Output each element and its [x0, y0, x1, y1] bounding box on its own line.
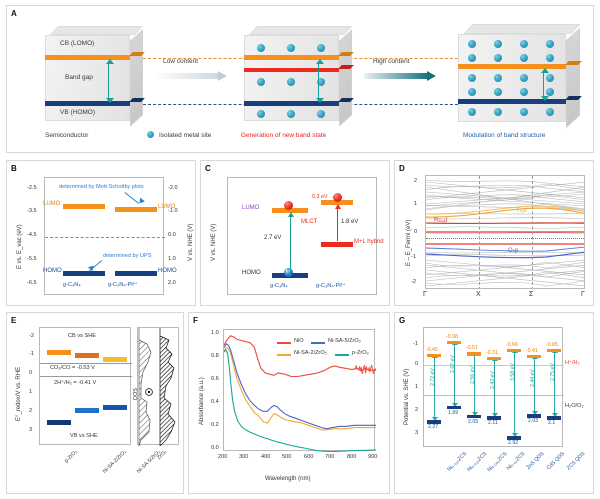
cb-bar-3 [487, 357, 501, 360]
panel-b-ylabel-right: V vs. NHE (V) [188, 224, 194, 261]
dos-axis-label: DOS [133, 388, 139, 400]
cb-value-2: -0.51 [466, 345, 478, 351]
panel-b-label: B [11, 164, 17, 173]
slab1-top [50, 26, 143, 35]
gap-value-2: 2.56 eV [470, 366, 476, 384]
panel-f-xtick-0: 200 [218, 454, 227, 460]
panel-d-label: D [399, 164, 405, 173]
slab1-side [130, 29, 143, 127]
vb-bar-6 [547, 416, 561, 419]
cb-bar-0 [427, 354, 441, 357]
gap-value-0: 2.72 eV [430, 368, 436, 386]
panel-a-label: A [11, 9, 17, 18]
slab1-cb-band [45, 55, 130, 60]
gap-value-5: 2.44 eV [530, 369, 536, 387]
legend-swatch-nisa2 [277, 354, 291, 356]
panel-d-plot: Ti₃d Ru₄d O₂p [425, 175, 585, 289]
sample-label-1: g-C₃N₄ [63, 282, 81, 288]
panel-d: D E – E_Fermi (eV) [394, 160, 594, 306]
panel-b-ytick-right-0: -2.0 [168, 185, 178, 191]
panel-f-xtick-6: 800 [347, 454, 356, 460]
panel-e-ytick-2: 0 [29, 370, 32, 376]
slab3-gap-arrow [543, 72, 544, 97]
gap-value-1: 2.67 eV [450, 355, 456, 373]
caption-middle: Generation of new band state [241, 132, 326, 139]
gap-stem-2 [474, 355, 475, 413]
panel-f-ytick-2: 0.4 [211, 399, 219, 405]
panel-d-ytick-4: -2 [411, 279, 416, 285]
slab3-side [566, 28, 580, 129]
c-sample-left: g-C₃N₄ [270, 283, 288, 289]
panel-g-plot: -0.452.272.72 eV-0.981.692.67 eV-0.512.0… [423, 327, 563, 447]
panel-b-ytick-left-2: -4.5 [27, 232, 37, 238]
legend-swatch-nio [277, 342, 291, 344]
homo-level-1 [63, 271, 105, 276]
vb-label: VB (HOMO) [60, 109, 95, 116]
lumo-level-1 [63, 204, 105, 209]
fermi-level-line [426, 238, 584, 239]
mlct-label: MLCT [301, 219, 317, 225]
panel-b-ytick-right-1: -1.0 [168, 208, 178, 214]
panel-f-ylabel: Absorbance (a.u.) [199, 377, 205, 425]
legend-label-pzro2: p-ZrO₂ [352, 350, 369, 356]
e-vb-bar-2 [103, 405, 127, 410]
panel-f-ytick-3: 0.6 [211, 376, 219, 382]
panel-d-ytick-1: 1 [414, 201, 417, 207]
panel-b-ytick-right-4: 2.0 [168, 280, 176, 286]
panel-e-dos-plot: DOS [137, 327, 179, 445]
c-transition-arrow-left [290, 216, 291, 270]
panel-d-xtick-0: Γ [423, 291, 427, 298]
panel-b-ytick-right-3: 1.0 [168, 256, 176, 262]
panel-g-ytick-1: 0 [415, 361, 418, 367]
vb-value-0: 2.27 [428, 424, 438, 430]
band-label-ti3d: Ti₃d [516, 208, 527, 214]
panel-g: G Potential vs. SHE (V) -0.452.272.72 eV… [394, 312, 594, 494]
vacuum-level-line [45, 237, 165, 238]
panel-d-xtick-3: Γ [581, 291, 585, 298]
legend-metal-dot [147, 131, 154, 138]
annotation-ups: determined by UPS [103, 253, 152, 259]
panel-c: C V vs. NHE (V) LUMO h⁺ HOMO 2.7 eV g-C₃… [200, 160, 390, 306]
panel-b-ytick-left-0: -2.5 [27, 185, 37, 191]
panel-e-ytick-1: -1 [29, 351, 34, 357]
panel-b-ytick-left-1: -3.5 [27, 208, 37, 214]
panel-d-ytick-3: -1 [411, 254, 416, 260]
panel-g-ytick-0: -1 [413, 341, 418, 347]
panel-f-xtick-7: 900 [368, 454, 377, 460]
slab2-new-band [244, 68, 339, 72]
slab1-vb-band [45, 101, 130, 106]
slab3-cb-band [458, 64, 566, 69]
ref-line-co2 [40, 363, 132, 364]
panel-e-xtick-1: Ni-SA-2/ZrO₂ [102, 449, 128, 475]
panel-g-xtick-2: Ni₀.₀₀₅ZCS [486, 451, 508, 473]
panel-b-ytick-right-2: 0.0 [168, 232, 176, 238]
ml-hybrid-label: M+L hybrid [354, 239, 384, 245]
panel-e-ytick-5: 3 [29, 427, 32, 433]
panel-f-xtick-3: 500 [282, 454, 291, 460]
gap-stem-6 [554, 352, 555, 414]
panel-e-ytick-4: 2 [29, 408, 32, 414]
panel-f-xtick-4: 600 [304, 454, 313, 460]
panel-g-ytick-3: 2 [415, 407, 418, 413]
panel-e-plot: CB vs SHE CO₂/CO = -0.53 V 2H⁺/H₂ = -0.4… [39, 327, 131, 445]
legend-label-nisa5: Ni-SA-5/ZrO₂ [328, 338, 361, 344]
homo-level-2 [115, 271, 157, 276]
c-offset-label: 0.3 eV [312, 194, 328, 200]
slab-semiconductor: CB (LOMO) VB (HOMO) Band gap [45, 26, 145, 126]
figure-root: A CB (LOMO) VB (HOMO) Band gap Semicondu… [0, 0, 600, 499]
panel-f-ytick-4: 0.8 [211, 353, 219, 359]
panel-f-xlabel: Wavelength (nm) [265, 476, 310, 482]
panel-f-label: F [193, 316, 198, 325]
panel-g-xtick-5: CdS QDS [546, 451, 566, 471]
cb-value-1: -0.98 [446, 334, 458, 340]
e-vb-bar-0 [47, 420, 71, 425]
slab3-vb-band [458, 99, 566, 104]
cb-vs-she-title: CB vs SHE [68, 333, 96, 339]
panel-g-ytick-2: 1 [415, 384, 418, 390]
slab3-top [463, 24, 580, 34]
homo-label-2: HOMO [158, 268, 177, 274]
ref-co2-label: CO₂/CO = -0.53 V [50, 365, 95, 371]
legend-label-nisa2: Ni-SA-2/ZrO₂ [294, 350, 327, 356]
arrow-high-content [364, 72, 436, 80]
vb-value-6: 2.1 [548, 420, 555, 426]
dos-curves [138, 328, 180, 446]
e-vb-bar-1 [75, 408, 99, 413]
vb-value-2: 2.05 [468, 419, 478, 425]
cb-value-0: -0.45 [426, 347, 438, 353]
panel-g-ylabel: Potential vs. SHE (V) [404, 369, 410, 425]
cb-value-4: -0.66 [506, 342, 518, 348]
cb-bar-6 [547, 349, 561, 352]
panel-b-plot: LUMO LUMO HOMO HOMO determined by Mott-S… [44, 177, 164, 295]
panel-d-ytick-2: 0 [414, 229, 417, 235]
cb-label: CB (LOMO) [60, 40, 94, 47]
slab2-top [249, 26, 352, 35]
vb-value-1: 1.69 [448, 410, 458, 416]
semiconductor-label: Semiconductor [45, 132, 88, 139]
arrow-high-content-label: High content [373, 58, 410, 65]
electron-ball-left [284, 201, 293, 210]
ref-line-h2 [40, 376, 132, 377]
slab-low-content [244, 26, 354, 126]
cb-value-3: -0.31 [486, 350, 498, 356]
vb-vs-she-title: VB vs SHE [70, 433, 98, 439]
absorbance-curves [224, 330, 376, 452]
legend-swatch-pzro2 [335, 354, 349, 356]
panel-d-xtick-2: Σ [529, 291, 533, 298]
lumo-label-1: LUMO [43, 201, 60, 207]
panel-b-ylabel-left: E vs. E_vac (eV) [17, 224, 23, 269]
electron-ball-right [333, 193, 342, 202]
panel-c-ylabel: V vs. NHE (V) [211, 224, 217, 261]
c-lumo-label: LUMO [242, 205, 259, 211]
panel-g-xtick-6: ZCS QDS [566, 451, 587, 472]
vb-value-4: 2.92 [508, 440, 518, 446]
caption-right: Modulation of band structure [463, 132, 545, 139]
panel-f-xtick-5: 700 [325, 454, 334, 460]
arrow-low-content-label: Low content [163, 58, 198, 65]
c-sample-right: g-C₃N₄-Pt²⁺ [316, 283, 346, 289]
vb-bar-1 [447, 406, 461, 409]
panel-f-xtick-1: 300 [239, 454, 248, 460]
panel-a: A CB (LOMO) VB (HOMO) Band gap Semicondu… [6, 5, 594, 153]
panel-e-xtick-0: p-ZrO₂ [64, 449, 79, 464]
ml-hybrid-level [321, 242, 353, 247]
panel-c-plot: LUMO h⁺ HOMO 2.7 eV g-C₃N₄ M+L hybrid ML… [227, 177, 377, 295]
band-gap-arrow [108, 63, 109, 99]
panel-d-ytick-0: 2 [414, 178, 417, 184]
panel-f-xtick-2: 400 [261, 454, 270, 460]
c-gap-right: 1.8 eV [341, 219, 358, 225]
gap-stem-1 [454, 344, 455, 404]
band-gap-label: Band gap [65, 74, 93, 81]
panel-b: B E vs. E_vac (eV) V vs. NHE (V) LUMO LU… [6, 160, 196, 306]
panel-g-xtick-3: Ni₀.₀₂ZCS [506, 451, 527, 472]
gap-value-6: 2.75 eV [550, 363, 556, 381]
panel-f-ytick-5: 1.0 [211, 330, 219, 336]
panel-f: F Absorbance (a.u.) Wavelength (nm) 0.0 … [188, 312, 390, 494]
d-gridline-x [479, 176, 480, 289]
cb-bar-1 [447, 341, 461, 344]
panel-g-xtick-1: Ni₀.₀₁₀ZCS [466, 451, 488, 473]
slab2-side [339, 29, 352, 127]
panel-b-ytick-left-3: -5.5 [27, 256, 37, 262]
panel-d-xtick-1: Χ [476, 291, 481, 298]
ref-h2-label: 2H⁺/H₂ = -0.41 V [54, 380, 96, 386]
panel-b-ytick-left-4: -6.5 [27, 280, 37, 286]
d-gridline-sigma [532, 176, 533, 289]
lumo-level-2 [115, 207, 157, 212]
slab2-gap-arrow [318, 63, 319, 99]
hole-ball: h⁺ [284, 268, 293, 277]
sample-label-2: g-C₃N₄-Pt²⁺ [108, 282, 138, 288]
slab2-vb-band [244, 101, 339, 106]
vb-value-3: 2.11 [488, 420, 498, 426]
isolated-site-label: Isolated metal site [159, 132, 211, 139]
vb-value-5: 2.03 [528, 418, 538, 424]
arrow-low-content [155, 72, 227, 80]
slab2-cb-band [244, 55, 339, 60]
series-2 [224, 347, 376, 430]
panel-e-ytick-0: -2 [29, 333, 34, 339]
panel-g-xtick-4: ZnS QDS [526, 451, 546, 471]
band-label-o2p: O₂p [508, 248, 518, 254]
e-cb-bar-0 [47, 350, 71, 355]
vb-bar-3 [487, 416, 501, 419]
annotation-mott-schottky: determined by Mott-Schottky plots [59, 184, 144, 190]
gap-value-3: 2.42 eV [490, 371, 496, 389]
mlct-arrow [337, 208, 338, 241]
legend-swatch-nisa5 [311, 342, 325, 344]
cb-bar-5 [527, 355, 541, 358]
vb-bar-0 [427, 420, 441, 423]
band-structure-curves [426, 176, 585, 289]
c-gap-left: 2.7 eV [264, 235, 281, 241]
vb-bar-5 [527, 414, 541, 417]
slab-high-content [458, 24, 583, 128]
panel-f-plot [223, 329, 375, 451]
vb-bar-2 [467, 415, 481, 418]
ref-label-o2: H₂O/O₂ [565, 403, 584, 409]
panel-g-ytick-4: 3 [415, 430, 418, 436]
cb-value-5: -0.41 [526, 348, 538, 354]
homo-label-1: HOMO [43, 268, 62, 274]
panel-e-label: E [11, 316, 16, 325]
panel-f-ytick-1: 0.2 [211, 422, 219, 428]
c-homo-label: HOMO [242, 270, 261, 276]
panel-g-xtick-0: Ni₀.₀₁₅ZCS [446, 451, 468, 473]
panel-e-ytick-3: 1 [29, 389, 32, 395]
vb-bar-4 [507, 436, 521, 439]
legend-label-nio: NiO [294, 338, 304, 344]
cb-bar-2 [467, 352, 481, 355]
e-cb-bar-1 [75, 353, 99, 358]
series-1 [224, 344, 376, 429]
panel-e-ylabel: E°_redox/V vs. RHE [16, 367, 22, 421]
panel-g-label: G [399, 316, 405, 325]
ref-label-h2: H⁺/H₂ [565, 360, 580, 366]
panel-e: E E°_redox/V vs. RHE CB vs SHE CO₂/CO = … [6, 312, 184, 494]
panel-f-ytick-0: 0.0 [211, 445, 219, 451]
panel-c-label: C [205, 164, 211, 173]
gap-stem-0 [434, 357, 435, 419]
cb-bar-4 [507, 349, 521, 352]
panel-e-xtick-2: Ni-SA-5/ZrO₂ [136, 449, 162, 475]
gap-value-4: 3.58 eV [510, 363, 516, 381]
band-label-ru4d: Ru₄d [434, 218, 447, 224]
cb-value-6: -0.65 [546, 342, 558, 348]
e-cb-bar-2 [103, 357, 127, 362]
